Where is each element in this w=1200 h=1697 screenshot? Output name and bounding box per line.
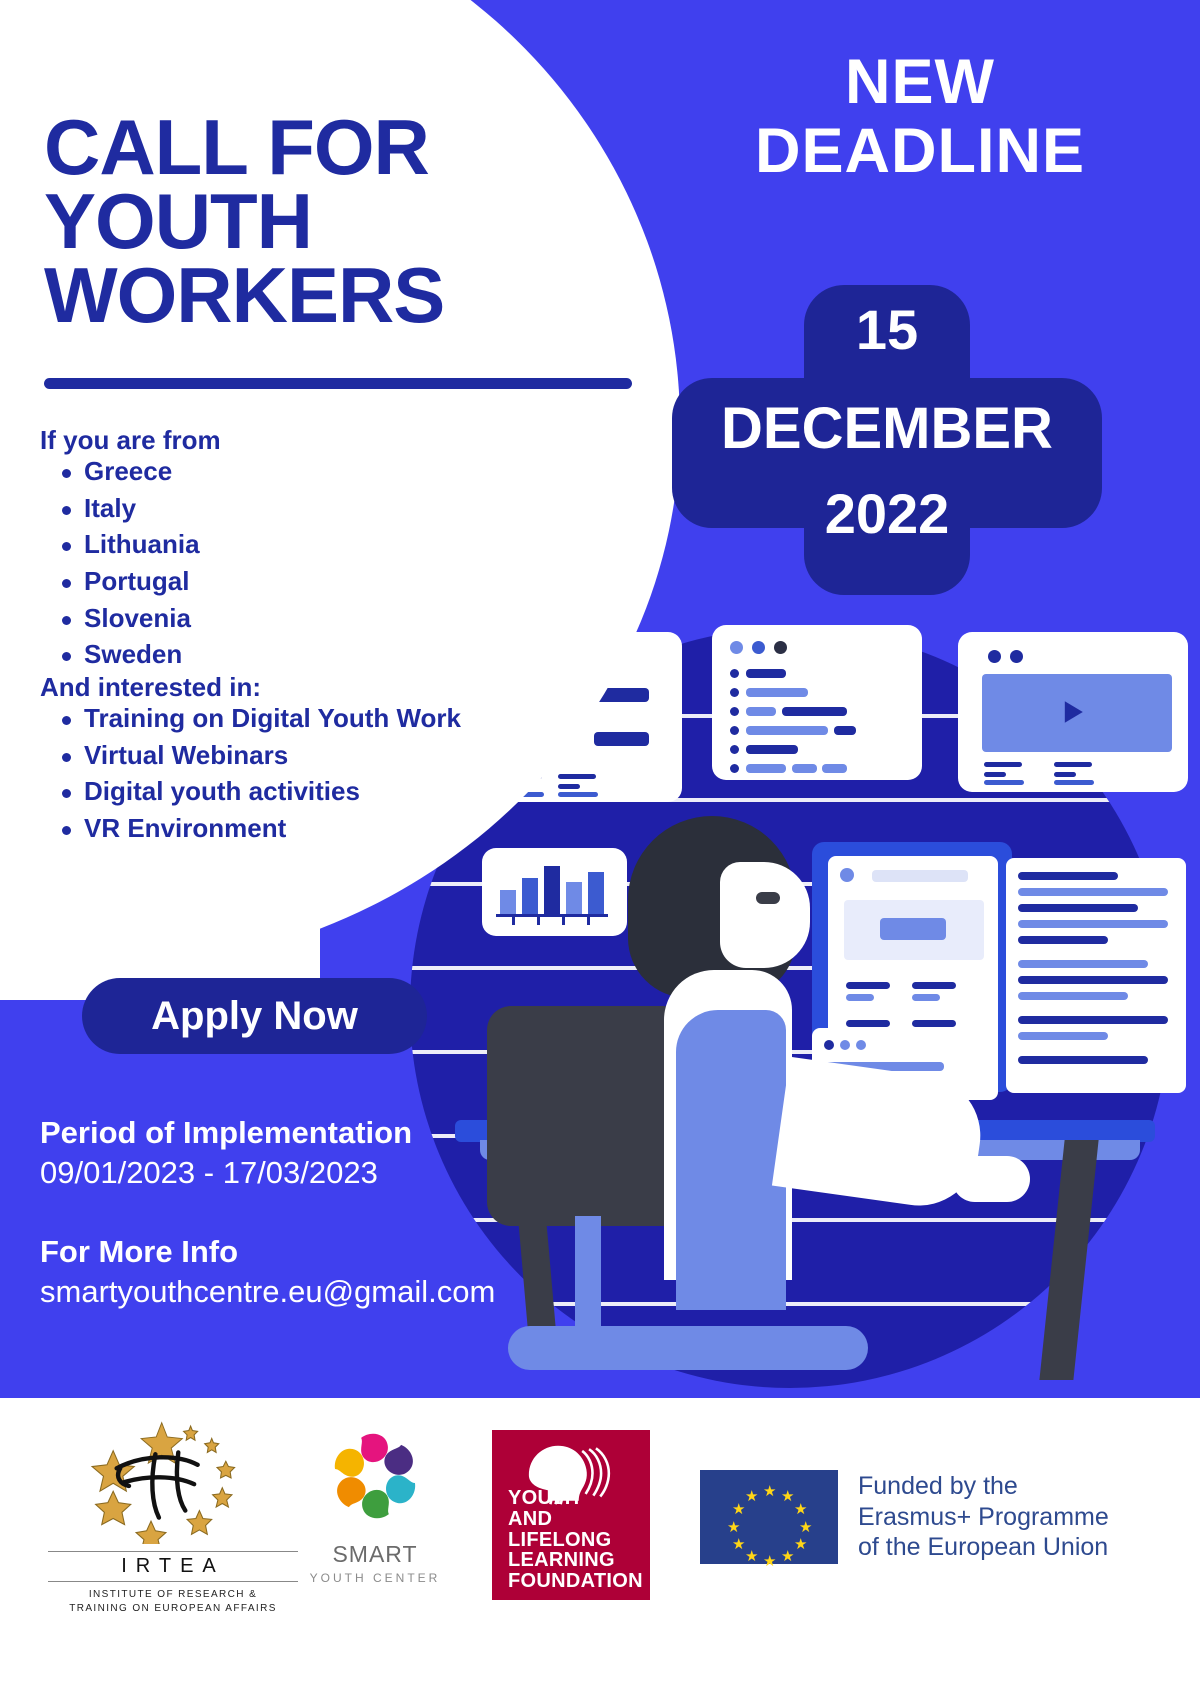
headline-line-1: CALL FOR [44, 110, 644, 184]
irtea-emblem-icon [53, 1412, 293, 1544]
list-item: Digital youth activities [40, 776, 461, 807]
person-vest [676, 1010, 786, 1310]
contact-heading: For More Info [40, 1234, 238, 1270]
contact-email[interactable]: smartyouthcentre.eu@gmail.com [40, 1274, 495, 1310]
poster: CALL FOR YOUTH WORKERS If you are from G… [0, 0, 1200, 1697]
headline-line-2: YOUTH [44, 184, 644, 258]
smart-name: SMART [282, 1541, 468, 1568]
apply-now-button[interactable]: Apply Now [82, 978, 427, 1054]
card-bar-chart [482, 848, 627, 936]
eu-funding-line-3: of the European Union [858, 1532, 1109, 1563]
yllf-line-3: LEARNING [508, 1550, 650, 1571]
person-face [720, 862, 810, 968]
list-item: Sweden [40, 639, 200, 670]
badge-text: 15 DECEMBER 2022 [672, 285, 1102, 595]
deadline-badge: 15 DECEMBER 2022 [672, 285, 1102, 595]
deadline-year: 2022 [672, 481, 1102, 546]
person-glasses [756, 892, 780, 904]
irtea-name: IRTEA [48, 1551, 298, 1582]
smart-subtitle: YOUTH CENTER [282, 1571, 468, 1585]
chair-base [508, 1326, 868, 1370]
bar-chart-icon [482, 848, 627, 936]
list-item: Lithuania [40, 529, 200, 560]
irtea-subtitle-line-2: TRAINING ON EUROPEAN AFFAIRS [48, 1602, 298, 1616]
deadline-day: 15 [672, 297, 1102, 362]
logo-smart-youth-center: SMART YOUTH CENTER [282, 1424, 468, 1585]
deadline-kicker-line-1: NEW [660, 48, 1180, 117]
period-dates: 09/01/2023 - 17/03/2023 [40, 1155, 378, 1191]
list-item: Slovenia [40, 603, 200, 634]
irtea-subtitle: INSTITUTE OF RESEARCH & TRAINING ON EURO… [48, 1588, 298, 1615]
topic-list: Training on Digital Youth Work Virtual W… [40, 703, 461, 850]
country-list: Greece Italy Lithuania Portugal Slovenia… [40, 456, 200, 676]
interests-lead: And interested in: [40, 672, 261, 703]
page-title: CALL FOR YOUTH WORKERS [44, 110, 644, 332]
list-item: VR Environment [40, 813, 461, 844]
desk-leg-right [1039, 1140, 1098, 1380]
irtea-subtitle-line-1: INSTITUTE OF RESEARCH & [48, 1588, 298, 1602]
smart-petals-icon [323, 1424, 427, 1528]
eu-flag-icon: ★ ★ ★ ★ ★ ★ ★ ★ ★ ★ ★ ★ [700, 1470, 838, 1564]
logo-erasmus-eu: ★ ★ ★ ★ ★ ★ ★ ★ ★ ★ ★ ★ Funded by the Er… [700, 1470, 1109, 1564]
yllf-line-1: YOUTH [508, 1488, 650, 1509]
eu-funding-line-2: Erasmus+ Programme [858, 1502, 1109, 1533]
logo-irtea: IRTEA INSTITUTE OF RESEARCH & TRAINING O… [48, 1412, 298, 1615]
chair-post [575, 1216, 601, 1326]
eu-funding-text: Funded by the Erasmus+ Programme of the … [858, 1471, 1109, 1563]
yllf-text: YOUTH AND LIFELONG LEARNING FOUNDATION [508, 1488, 650, 1592]
play-icon [1054, 694, 1090, 730]
card-checklist [712, 625, 922, 780]
yllf-line-4: FOUNDATION [508, 1571, 650, 1592]
period-heading: Period of Implementation [40, 1115, 412, 1151]
eu-funding-line-1: Funded by the [858, 1471, 1109, 1502]
logo-youth-lifelong-learning-foundation: YOUTH AND LIFELONG LEARNING FOUNDATION [492, 1430, 650, 1600]
deadline-month: DECEMBER [672, 395, 1102, 462]
list-item: Portugal [40, 566, 200, 597]
deadline-kicker: NEW DEADLINE [660, 48, 1180, 187]
yllf-line-2: AND LIFELONG [508, 1509, 650, 1551]
headline-line-3: WORKERS [44, 258, 644, 332]
chair-back [487, 1006, 687, 1226]
card-video [958, 632, 1188, 792]
deadline-kicker-line-2: DEADLINE [660, 117, 1180, 186]
eligibility-lead: If you are from [40, 425, 221, 456]
person-hand [952, 1156, 1030, 1202]
list-item: Virtual Webinars [40, 740, 461, 771]
list-item: Italy [40, 493, 200, 524]
list-item: Training on Digital Youth Work [40, 703, 461, 734]
title-divider [44, 378, 632, 389]
list-item: Greece [40, 456, 200, 487]
